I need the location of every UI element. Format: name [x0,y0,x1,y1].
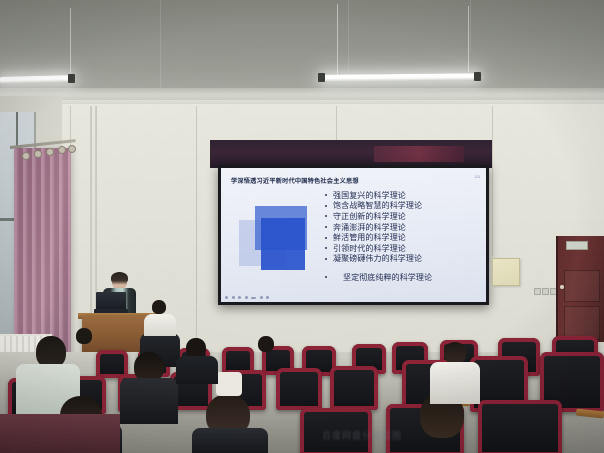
door-handle[interactable] [560,285,564,289]
list-item: 守正创新的科学理论 [325,211,475,222]
bullet-dot-icon [325,247,327,249]
audience-member-body [120,378,178,424]
slide-title: 学深悟透习近平新时代中国特色社会主义思想 [231,176,359,185]
window-curtain [14,148,71,360]
exit-door[interactable] [556,236,604,342]
presenter-laptop [96,292,126,310]
ceiling-seam [160,0,161,92]
tube-end-cap [318,73,325,82]
audience-member-body [192,428,268,453]
ceiling-seam [348,0,349,74]
seat [330,366,378,410]
curtain-grommet [58,146,66,154]
slideshow-toolbar[interactable] [225,296,269,299]
light-hanger-rod [70,8,71,76]
bullet-label: 引领时代的科学理论 [333,243,406,254]
audience-hat [216,372,242,396]
seat [478,400,562,453]
audience-member [76,328,92,344]
wall-pipe [95,106,97,314]
bullet-dot-icon [325,215,327,217]
ceiling [0,0,604,96]
bullet-label: 饱含战略智慧的科学理论 [333,200,422,211]
slide-nav-icon[interactable] [245,296,248,299]
slide-bullet-list: 强国复兴的科学理论 饱含战略智慧的科学理论 守正创新的科学理论 奔涌澎湃的科学理… [325,190,475,283]
curtain-grommet [68,145,76,153]
bullet-dot-icon [325,226,327,228]
audience-member-body [144,314,176,336]
audience-member [186,338,206,358]
list-item: 凝聚磅礴伟力的科学理论 [325,254,475,265]
list-item: 坚定彻底纯粹的科学理论 [325,272,475,283]
light-switch-plate[interactable] [542,288,549,295]
bullet-dot-icon [325,276,327,278]
led-display[interactable]: 学深悟透习近平新时代中国特色社会主义思想 13 强国复兴的科学理论 饱含战略智慧… [218,165,489,305]
wall-panel-line [196,106,197,346]
pen-icon[interactable] [232,296,235,299]
pointer-icon[interactable] [238,296,241,299]
audience-member-body [176,356,218,384]
bullet-spacer [325,264,475,272]
slide-surface: 学深悟透习近平新时代中国特色社会主义思想 13 强国复兴的科学理论 饱含战略智慧… [221,168,486,302]
door-sign [566,241,588,250]
lecture-hall-photo: 学深悟透习近平新时代中国特色社会主义思想 13 强国复兴的科学理论 饱含战略智慧… [0,0,604,453]
list-item: 饱含战略智慧的科学理论 [325,201,475,212]
bullet-label: 守正创新的科学理论 [333,211,406,222]
slide-page-badge: 13 [475,174,480,179]
front-seat-back [0,414,120,453]
slide-decor-square-dark [261,218,305,270]
wall-pipe [90,106,92,318]
curtain-grommet [34,150,42,158]
list-item: 引领时代的科学理论 [325,243,475,254]
door-panel [564,306,600,340]
watermark: 百度网盘分享截图 [322,429,402,443]
menu-icon[interactable] [251,297,256,299]
door-panel [564,270,600,302]
zoom-icon[interactable] [260,296,263,299]
bullet-label: 鲜活管用的科学理论 [333,232,406,243]
bullet-dot-icon [325,237,327,239]
bullet-label: 奔涌澎湃的科学理论 [333,222,406,233]
play-icon[interactable] [225,296,228,299]
curtain-grommet [22,152,30,160]
list-item: 强国复兴的科学理论 [325,190,475,201]
bullet-label: 强国复兴的科学理论 [333,190,406,201]
wall-notice-board [492,258,520,286]
light-switch-plate[interactable] [534,288,541,295]
list-item: 奔涌澎湃的科学理论 [325,222,475,233]
curtain-grommet [46,148,54,156]
more-icon[interactable] [266,296,269,299]
bullet-dot-icon [325,194,327,196]
list-item: 鲜活管用的科学理论 [325,232,475,243]
audience-member [152,300,166,314]
wall-panel-line [492,106,493,256]
audience-member [444,342,466,364]
bullet-label: 凝聚磅礴伟力的科学理论 [333,253,422,264]
bullet-dot-icon [325,205,327,207]
light-hanger-rod [337,4,338,76]
audience-member-body [430,362,480,404]
seat [276,368,322,410]
bullet-dot-icon [325,258,327,260]
tube-end-cap [474,72,481,81]
display-housing [210,140,492,168]
tube-end-cap [68,74,75,83]
ceiling-seam [470,0,471,52]
audience-member [258,336,274,352]
bullet-label: 坚定彻底纯粹的科学理论 [343,272,432,283]
light-hanger-rod [468,6,469,72]
